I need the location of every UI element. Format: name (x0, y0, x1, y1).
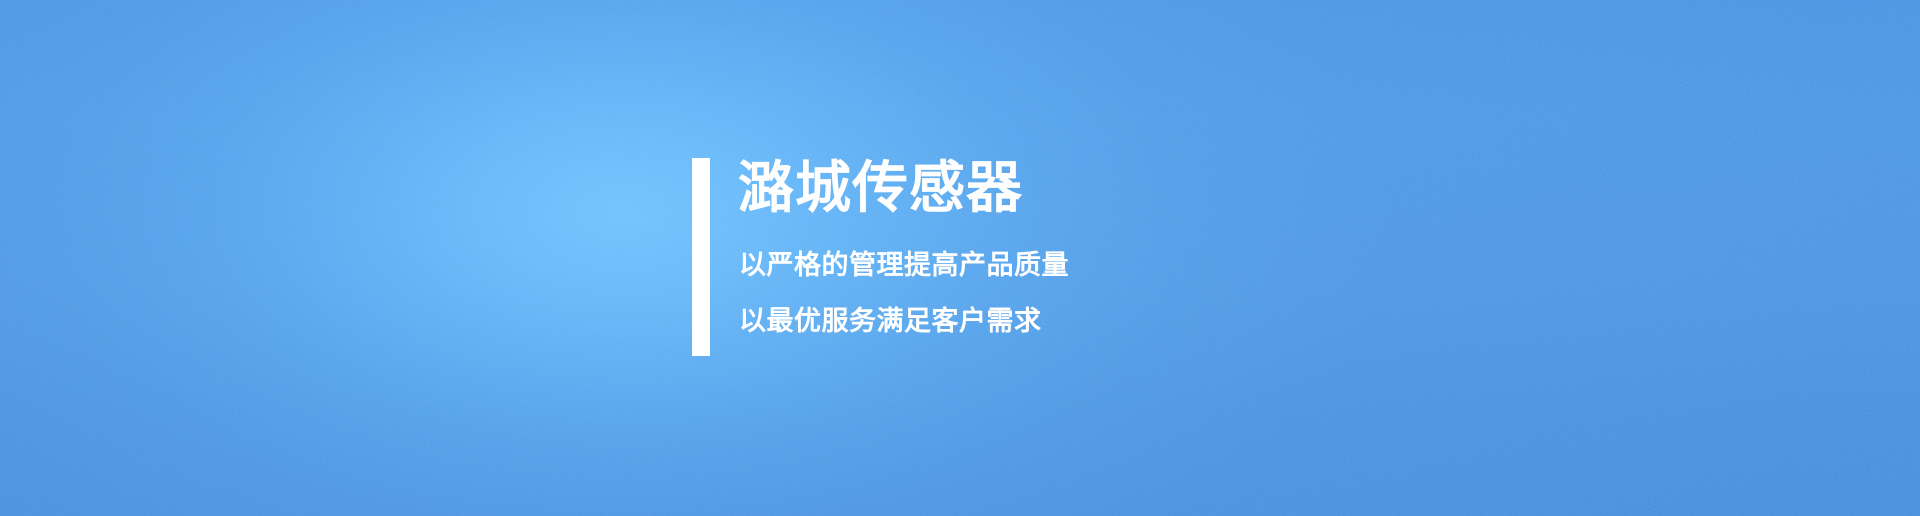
banner-content: 潞城传感器 以严格的管理提高产品质量 以最优服务满足客户需求 (692, 158, 1392, 356)
accent-bar (692, 158, 710, 356)
banner-text-block: 潞城传感器 以严格的管理提高产品质量 以最优服务满足客户需求 (738, 158, 1378, 356)
banner-subtitle-line-2: 以最优服务满足客户需求 (739, 306, 1042, 338)
page-title: 潞城传感器 (738, 158, 1023, 220)
banner-subtitle-line-1: 以严格的管理提高产品质量 (739, 250, 1069, 282)
hero-banner: 潞城传感器 以严格的管理提高产品质量 以最优服务满足客户需求 (0, 0, 1920, 516)
